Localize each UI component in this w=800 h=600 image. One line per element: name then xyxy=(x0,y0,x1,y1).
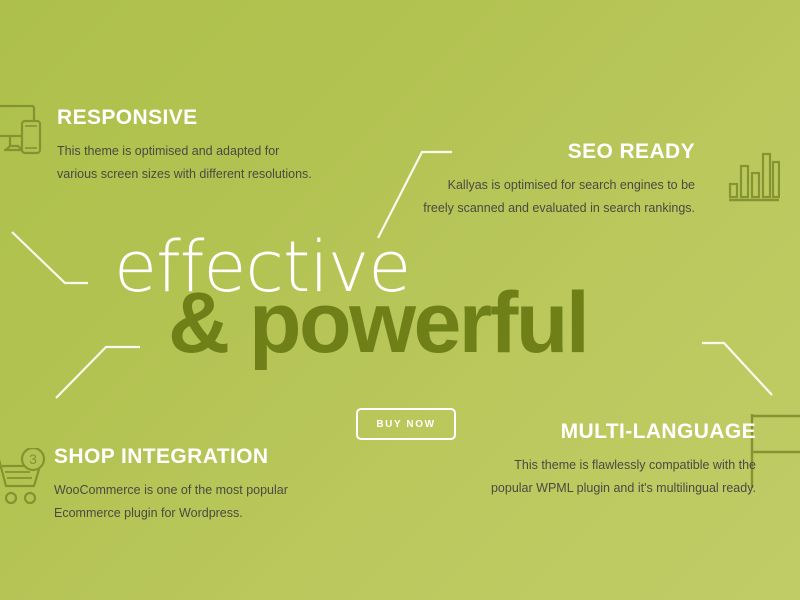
feature-multilanguage: MULTI-LANGUAGE This theme is flawlessly … xyxy=(471,420,756,500)
promo-banner: 3 RESPONSIVE This theme is optimised and… xyxy=(0,0,800,600)
feature-seo: SEO READY Kallyas is optimised for searc… xyxy=(420,140,695,220)
hero-headline: effective & powerful xyxy=(0,232,800,382)
devices-icon xyxy=(0,102,48,164)
feature-shop-title: SHOP INTEGRATION xyxy=(54,445,324,468)
cart-badge-count: 3 xyxy=(29,451,37,467)
feature-shop-body: WooCommerce is one of the most popular E… xyxy=(54,479,324,525)
feature-seo-title: SEO READY xyxy=(420,140,695,163)
feature-seo-body: Kallyas is optimised for search engines … xyxy=(420,174,695,220)
feature-responsive-title: RESPONSIVE xyxy=(57,106,317,129)
feature-shop: SHOP INTEGRATION WooCommerce is one of t… xyxy=(54,445,324,525)
bar-chart-icon xyxy=(728,148,780,204)
hero-headline-line-2: & powerful xyxy=(168,280,587,366)
feature-multilanguage-body: This theme is flawlessly compatible with… xyxy=(471,454,756,500)
feature-multilanguage-title: MULTI-LANGUAGE xyxy=(471,420,756,443)
buy-now-button[interactable]: BUY NOW xyxy=(356,408,456,440)
feature-responsive-body: This theme is optimised and adapted for … xyxy=(57,140,317,186)
feature-responsive: RESPONSIVE This theme is optimised and a… xyxy=(57,106,317,186)
shopping-cart-icon: 3 xyxy=(0,448,48,510)
